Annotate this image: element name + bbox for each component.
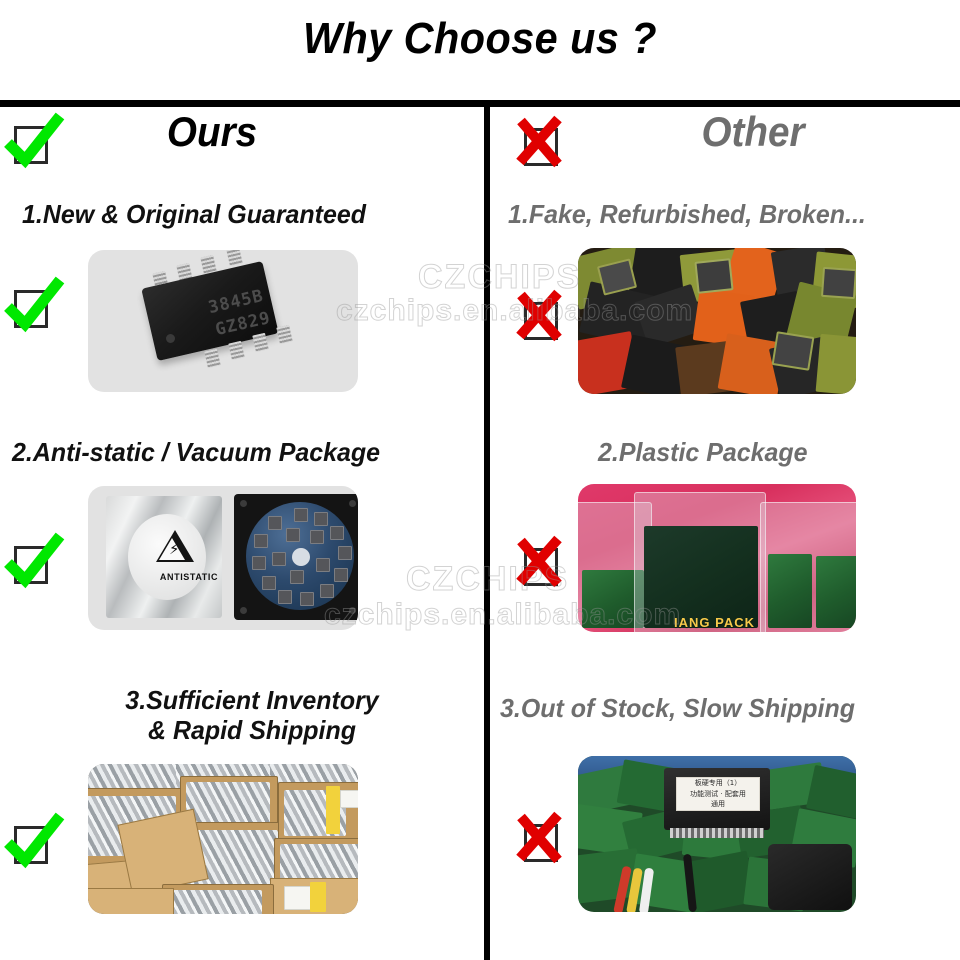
module-label-line-2: 功能测试 · 配套用 (677, 789, 759, 800)
reel (246, 502, 354, 610)
component-reel-tray (234, 494, 358, 620)
pack-overlay-text: IANG PACK (674, 615, 755, 630)
scrap-chips-photo (578, 248, 856, 394)
column-title-other: Other (537, 108, 960, 156)
black-panel (768, 844, 852, 910)
chip-pin1-dot (166, 334, 175, 343)
comparison-row-1: 1.New & Original Guaranteed 3845B GZ829 … (0, 178, 960, 413)
row-2-left-label: 2.Anti-static / Vacuum Package (12, 438, 463, 468)
row-1-left-label: 1.New & Original Guaranteed (22, 200, 454, 230)
row-3-right-label: 3.Out of Stock, Slow Shipping (500, 694, 938, 724)
cross-icon (518, 542, 564, 588)
warehouse-boxes-photo (88, 764, 358, 914)
cross-icon (518, 296, 564, 342)
comparison-row-3: 3.Sufficient Inventory & Rapid Shipping (0, 672, 960, 932)
circuit-board (644, 526, 758, 628)
module-label-line-3: 通用 (677, 799, 759, 810)
plastic-package-photo: IANG PACK (578, 484, 856, 632)
lightning-bolt-icon: ⚡ (169, 542, 180, 557)
row-2-right-label: 2.Plastic Package (598, 438, 944, 468)
chip-pin (276, 325, 292, 344)
pcb-scrap-pile-photo: 板硬专用（1） 功能测试 · 配套用 通用 (578, 756, 856, 912)
antistatic-bag: ⚡ ANTISTATIC (106, 496, 222, 618)
column-header-other: Other (490, 106, 960, 176)
check-icon (8, 820, 54, 866)
row-1-right-label: 1.Fake, Refurbished, Broken... (508, 200, 940, 230)
page-title: Why Choose us ? (29, 14, 931, 64)
module-label: 板硬专用（1） 功能测试 · 配套用 通用 (676, 777, 760, 811)
antistatic-package-photo: ⚡ ANTISTATIC (88, 486, 358, 630)
black-module: 板硬专用（1） 功能测试 · 配套用 通用 (664, 768, 770, 830)
antistatic-label-text: ANTISTATIC (128, 572, 250, 582)
comparison-row-2: 2.Anti-static / Vacuum Package ⚡ ANTISTA… (0, 420, 960, 660)
ic-chip-photo: 3845B GZ829 (88, 250, 358, 392)
check-icon (8, 284, 54, 330)
chip-pin (226, 250, 242, 266)
cross-icon (518, 818, 564, 864)
column-title-ours: Ours (0, 108, 435, 156)
row-3-left-label: 3.Sufficient Inventory & Rapid Shipping (60, 686, 444, 746)
bag-label-disc: ⚡ ANTISTATIC (128, 514, 206, 600)
check-icon (8, 540, 54, 586)
module-label-line-1: 板硬专用（1） (677, 778, 759, 789)
column-header-ours: Ours (0, 106, 484, 176)
chip-pin (228, 341, 244, 360)
why-choose-us-infographic: Why Choose us ? Ours Other 1.New & Origi… (0, 0, 960, 960)
chip-pin (204, 349, 220, 368)
